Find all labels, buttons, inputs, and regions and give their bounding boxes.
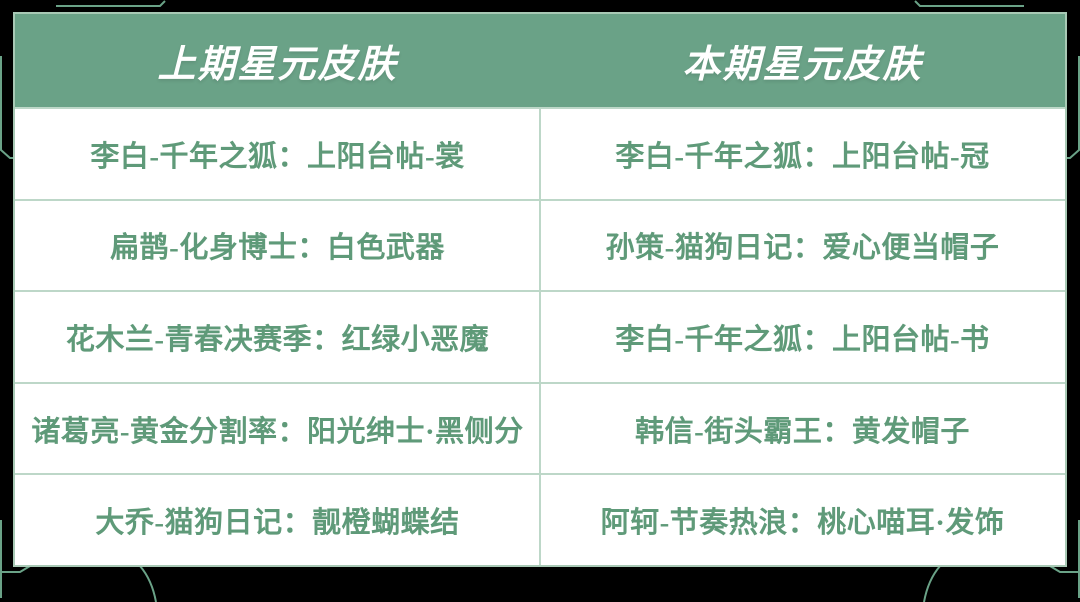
table-header-row: 上期星元皮肤 本期星元皮肤: [15, 14, 1065, 107]
cell-previous-skin: 扁鹊-化身博士：白色武器: [15, 201, 540, 291]
table-body: 李白-千年之狐：上阳台帖-裳 李白-千年之狐：上阳台帖-冠 扁鹊-化身博士：白色…: [15, 107, 1065, 565]
table-row: 大乔-猫狗日记：靓橙蝴蝶结 阿轲-节奏热浪：桃心喵耳·发饰: [15, 473, 1065, 565]
cell-previous-skin: 花木兰-青春决赛季：红绿小恶魔: [15, 292, 540, 382]
cell-current-skin: 韩信-街头霸王：黄发帽子: [540, 384, 1065, 474]
column-header-previous: 上期星元皮肤: [15, 14, 540, 107]
skin-comparison-table: 上期星元皮肤 本期星元皮肤 李白-千年之狐：上阳台帖-裳 李白-千年之狐：上阳台…: [13, 12, 1067, 567]
cell-current-skin: 李白-千年之狐：上阳台帖-书: [540, 292, 1065, 382]
table-row: 扁鹊-化身博士：白色武器 孙策-猫狗日记：爱心便当帽子: [15, 199, 1065, 291]
page-root: 上期星元皮肤 本期星元皮肤 李白-千年之狐：上阳台帖-裳 李白-千年之狐：上阳台…: [0, 0, 1080, 602]
column-header-current: 本期星元皮肤: [540, 14, 1065, 107]
table-row: 诸葛亮-黄金分割率：阳光绅士·黑侧分 韩信-街头霸王：黄发帽子: [15, 382, 1065, 474]
table-row: 花木兰-青春决赛季：红绿小恶魔 李白-千年之狐：上阳台帖-书: [15, 290, 1065, 382]
cell-current-skin: 孙策-猫狗日记：爱心便当帽子: [540, 201, 1065, 291]
table-row: 李白-千年之狐：上阳台帖-裳 李白-千年之狐：上阳台帖-冠: [15, 107, 1065, 199]
cell-current-skin: 阿轲-节奏热浪：桃心喵耳·发饰: [540, 475, 1065, 565]
cell-previous-skin: 大乔-猫狗日记：靓橙蝴蝶结: [15, 475, 540, 565]
cell-previous-skin: 诸葛亮-黄金分割率：阳光绅士·黑侧分: [15, 384, 540, 474]
cell-current-skin: 李白-千年之狐：上阳台帖-冠: [540, 109, 1065, 199]
cell-previous-skin: 李白-千年之狐：上阳台帖-裳: [15, 109, 540, 199]
